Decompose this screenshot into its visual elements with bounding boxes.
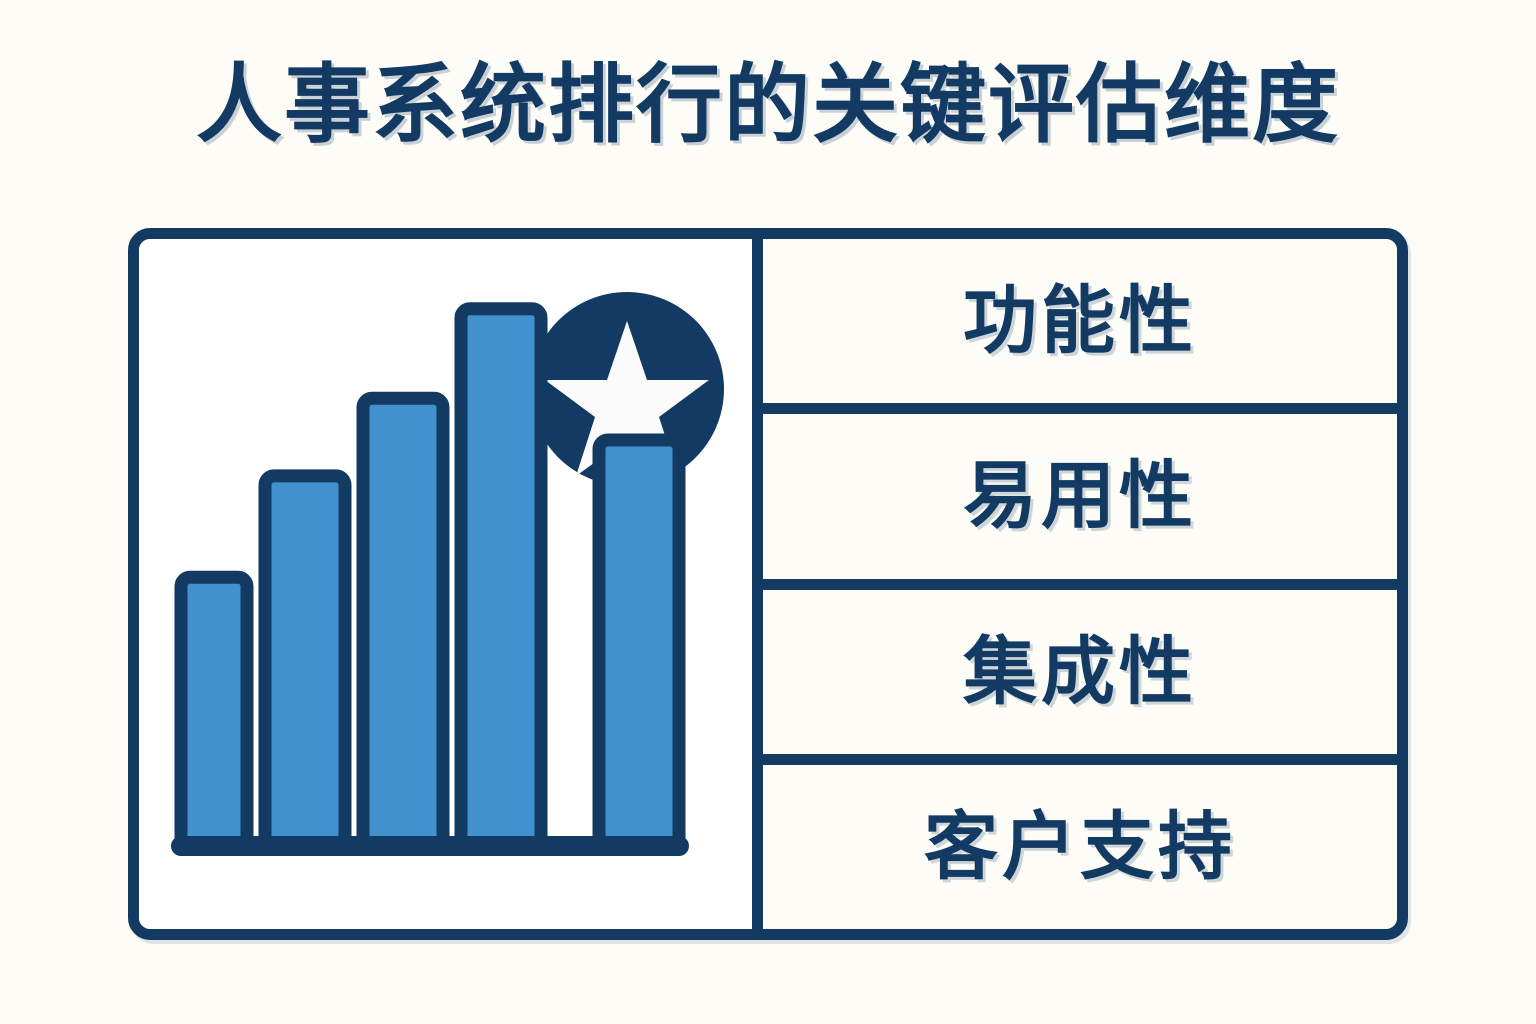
dimension-list-panel: 功能性 易用性 集成性 客户支持: [763, 239, 1397, 929]
bar-5: [599, 440, 679, 846]
dimension-label-integration: 集成性: [963, 635, 1197, 709]
bar-1: [181, 577, 247, 846]
dimension-label-usability: 易用性: [963, 459, 1197, 533]
bar-3: [363, 398, 443, 846]
main-card: 功能性 易用性 集成性 客户支持: [128, 228, 1408, 940]
page-title: 人事系统排行的关键评估维度: [0, 62, 1536, 148]
dimension-label-customer-support: 客户支持: [924, 810, 1236, 884]
bar-chart-graphic: [139, 239, 752, 929]
bar-4: [461, 309, 541, 846]
dimension-row-4[interactable]: 客户支持: [763, 754, 1397, 929]
dimension-row-3[interactable]: 集成性: [763, 579, 1397, 754]
chart-panel: [139, 239, 763, 929]
bar-2: [265, 476, 345, 846]
infographic-canvas: 人事系统排行的关键评估维度: [0, 0, 1536, 1024]
dimension-row-1[interactable]: 功能性: [763, 239, 1397, 403]
dimension-label-functionality: 功能性: [963, 284, 1197, 358]
dimension-row-2[interactable]: 易用性: [763, 403, 1397, 578]
